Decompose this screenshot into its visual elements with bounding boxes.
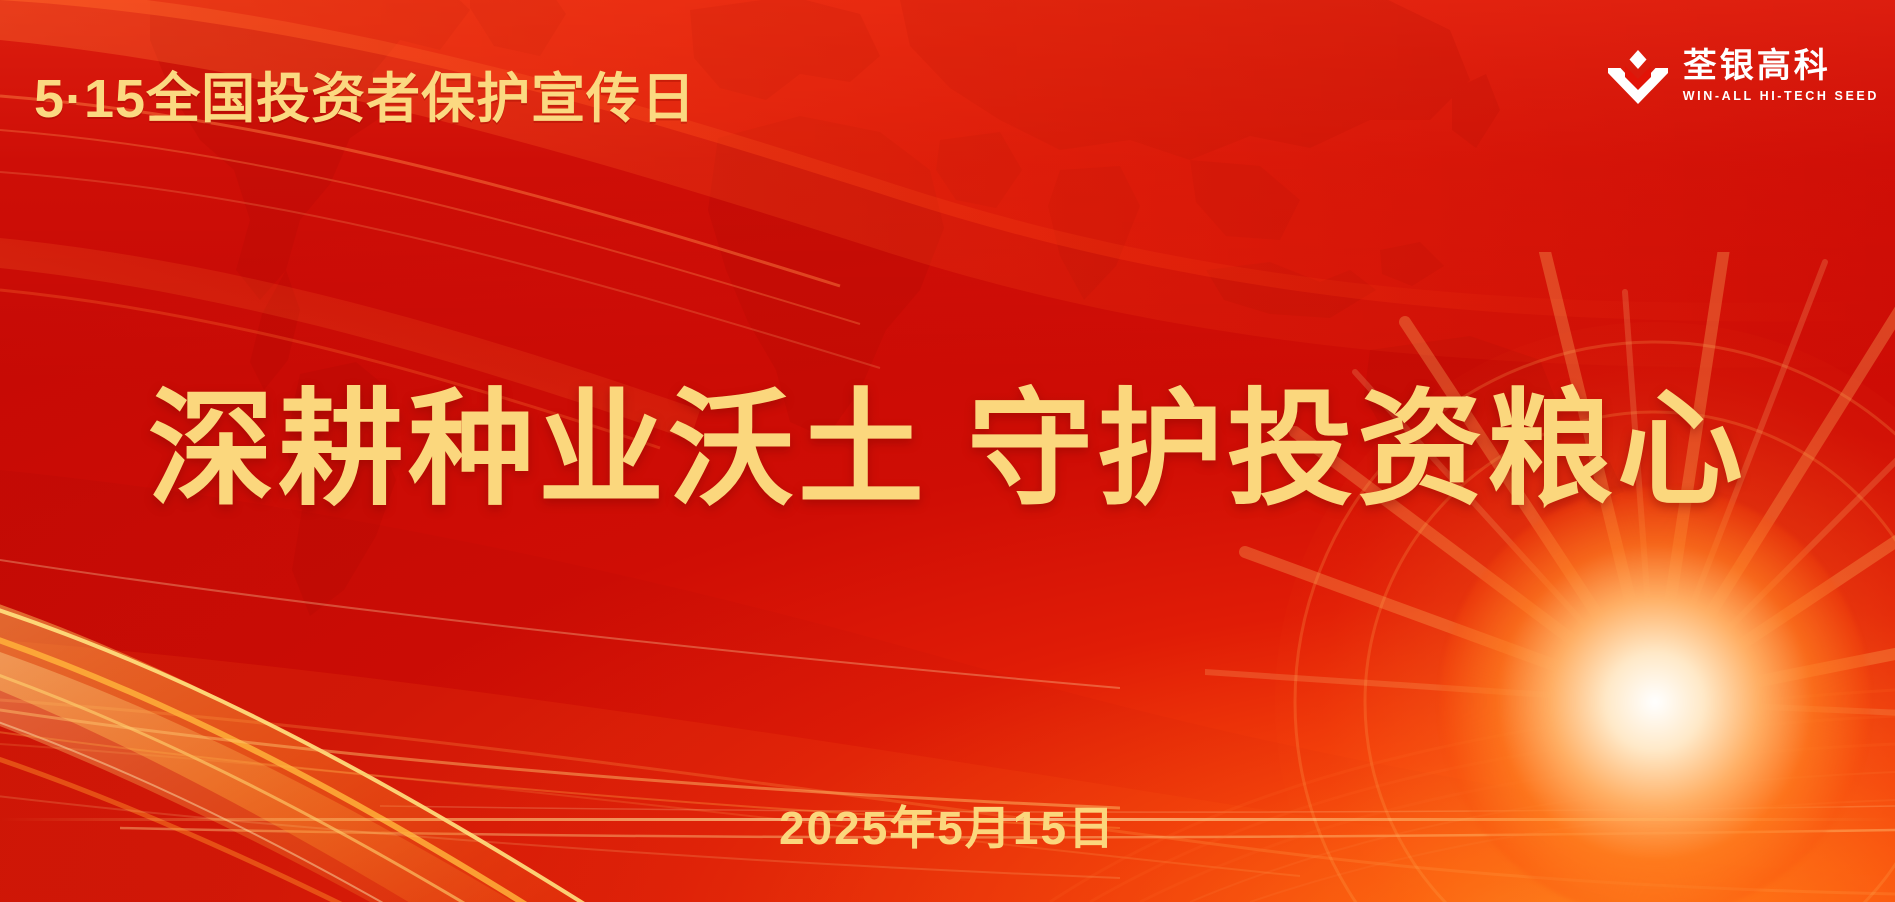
- banner-content: 5·15全国投资者保护宣传日 荃银高科 WIN-ALL HI-TECH SEED: [0, 0, 1895, 902]
- win-all-chevron-logo-icon: [1607, 46, 1669, 106]
- logo-text-block: 荃银高科 WIN-ALL HI-TECH SEED: [1683, 49, 1879, 103]
- logo-name-en: WIN-ALL HI-TECH SEED: [1683, 89, 1879, 103]
- campaign-kicker-text: 5·15全国投资者保护宣传日: [34, 54, 696, 133]
- main-headline: 深耕种业沃土 守护投资粮心: [0, 348, 1895, 530]
- investor-protection-day-banner: 5·15全国投资者保护宣传日 荃银高科 WIN-ALL HI-TECH SEED: [0, 0, 1895, 902]
- event-date: 2025年5月15日: [0, 792, 1895, 858]
- logo-name-cn: 荃银高科: [1683, 49, 1879, 85]
- company-logo: 荃银高科 WIN-ALL HI-TECH SEED: [1607, 46, 1879, 106]
